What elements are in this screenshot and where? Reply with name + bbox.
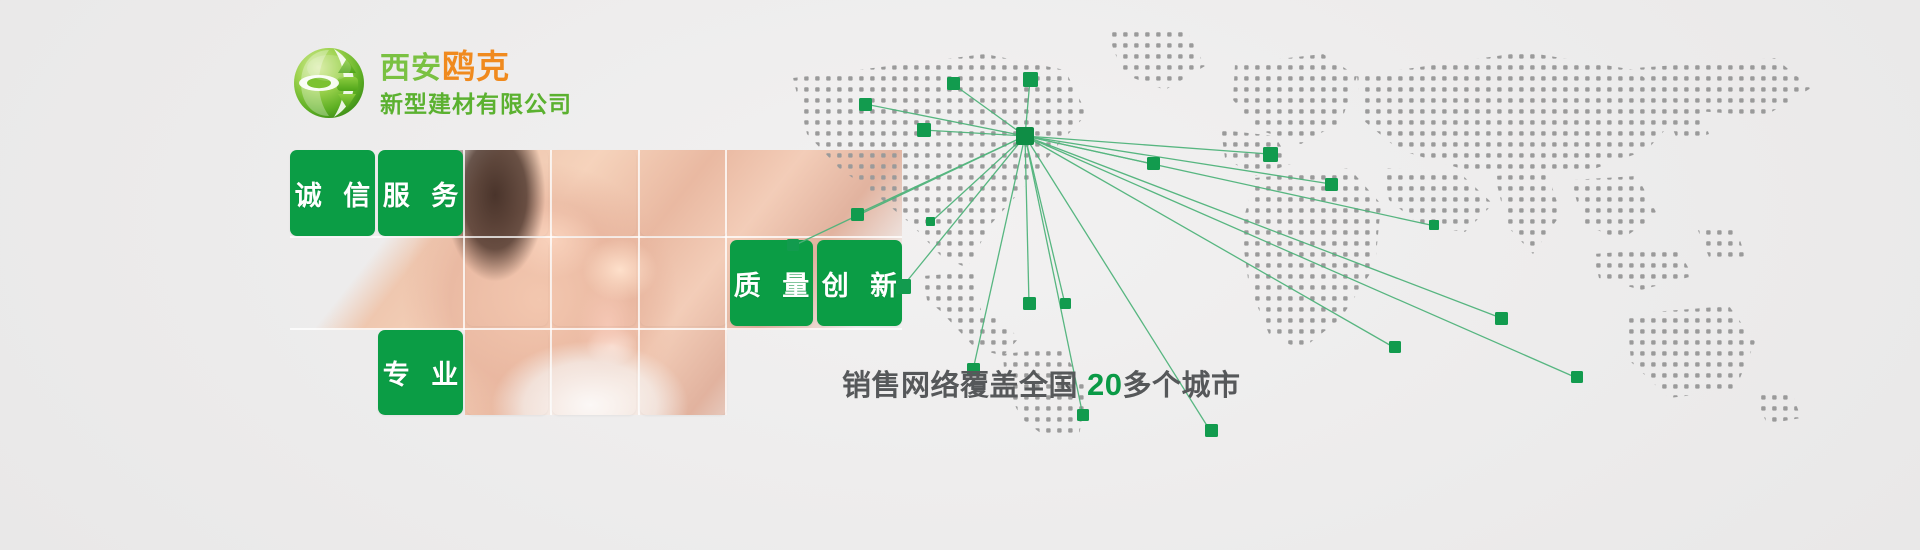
- tile-label: 专 业: [378, 330, 463, 415]
- tile-label: 服 务: [378, 150, 463, 236]
- tile-fuwu[interactable]: 服 务: [378, 150, 463, 236]
- logo-emblem-icon: [292, 46, 366, 120]
- tile-photo-r1c2: [466, 240, 548, 326]
- caption-text-after: 多个城市: [1123, 370, 1241, 402]
- tile-photo-r0c4: [640, 150, 727, 236]
- network-caption: 销售网络覆盖全国20多个城市: [842, 362, 1241, 404]
- tile-photo-r2c3: [552, 330, 636, 415]
- caption-text-before: 销售网络覆盖全国: [842, 370, 1078, 402]
- tile-photo-r2c4: [640, 330, 727, 415]
- tile-chengxin[interactable]: 诚 信: [290, 150, 375, 236]
- tile-photo-r1c4: [640, 240, 727, 326]
- tile-zhuanye[interactable]: 专 业: [378, 330, 463, 415]
- logo-name-prefix: 西安: [380, 52, 442, 85]
- logo-name-line2: 新型建材有限公司: [380, 93, 572, 116]
- logo-wordmark: 西安鸥克 新型建材有限公司: [380, 50, 572, 116]
- logo-name-accent: 鸥克: [442, 48, 510, 85]
- logo-name-line1: 西安鸥克: [380, 50, 572, 84]
- map-hub-marker: [1016, 127, 1034, 145]
- tile-label: 诚 信: [290, 150, 375, 236]
- company-logo[interactable]: 西安鸥克 新型建材有限公司: [292, 46, 572, 120]
- tile-photo-r0c2: [466, 150, 548, 236]
- tile-photo-r0c3: [552, 150, 636, 236]
- caption-number: 20: [1087, 367, 1122, 402]
- tile-photo-r2c2: [466, 330, 548, 415]
- hero-banner: 西安鸥克 新型建材有限公司 诚 信 服 务: [0, 0, 1920, 550]
- tile-photo-r1c3: [552, 240, 636, 326]
